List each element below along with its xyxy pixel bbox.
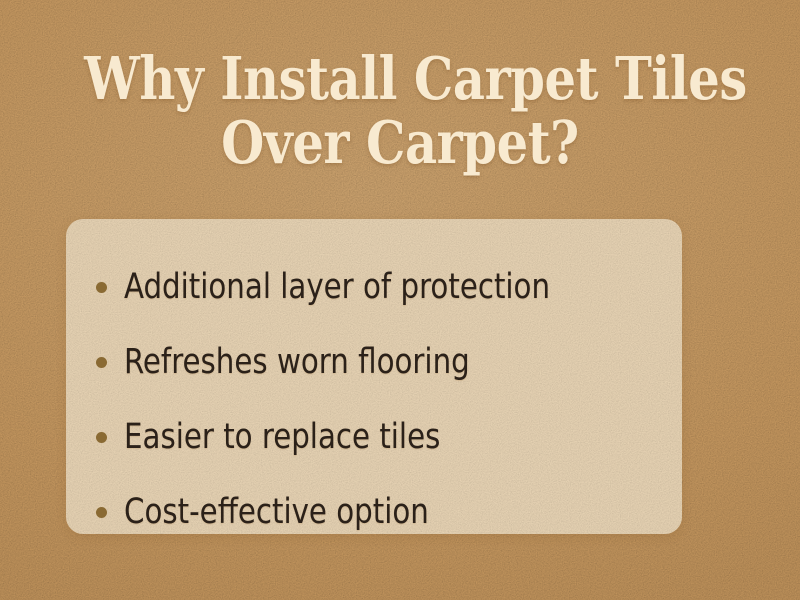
list-item: Easier to replace tiles: [96, 399, 682, 474]
bullet-card-panel: Additional layer of protection Refreshes…: [66, 219, 682, 534]
bullet-dot-icon: [96, 282, 107, 293]
bullet-dot-icon: [96, 357, 107, 368]
slide-title: Why Install Carpet Tiles Over Carpet?: [0, 47, 800, 175]
bullet-dot-icon: [96, 507, 107, 518]
slide-canvas: Why Install Carpet Tiles Over Carpet? Ad…: [0, 0, 800, 600]
list-item: Additional layer of protection: [96, 249, 682, 324]
list-item: Cost-effective option: [96, 474, 682, 534]
list-item: Refreshes worn flooring: [96, 324, 682, 399]
list-item-label: Easier to replace tiles: [124, 417, 440, 457]
title-line-1: Why Install Carpet Tiles: [84, 47, 716, 111]
list-item-label: Additional layer of protection: [124, 267, 550, 307]
list-item-label: Cost-effective option: [124, 492, 429, 532]
bullet-dot-icon: [96, 432, 107, 443]
title-line-2: Over Carpet?: [84, 111, 716, 175]
list-item-label: Refreshes worn flooring: [124, 342, 470, 382]
benefits-list: Additional layer of protection Refreshes…: [66, 219, 682, 534]
